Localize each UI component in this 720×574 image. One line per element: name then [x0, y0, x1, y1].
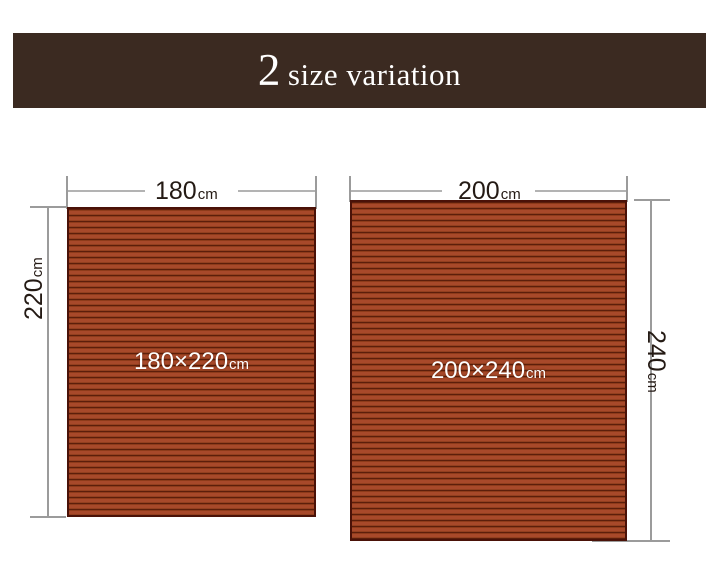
rug-size-unit-left: cm [229, 356, 249, 373]
height-unit-left: cm [30, 257, 45, 277]
height-label-left: 220cm [22, 257, 47, 320]
width-value-left: 180 [155, 179, 197, 204]
variation-count: 2 [258, 48, 281, 93]
dimension-tick-side-left-top [30, 206, 66, 208]
rug-size-label-right: 200×240cm [431, 357, 546, 385]
rug-size-value-left: 180×220 [134, 348, 228, 376]
dimension-line-top-left-a [67, 190, 145, 192]
size-variation-page: 2 size variation 180cm 220cm 180×220cm 2… [0, 0, 720, 574]
dimension-tick-left-start [66, 176, 68, 209]
dimension-tick-right-start [349, 176, 351, 202]
height-label-right: 240cm [643, 330, 668, 393]
dimension-line-top-right-b [535, 190, 627, 192]
dimension-tick-right-end [626, 176, 628, 202]
page-title: 2 size variation [258, 48, 461, 93]
page-title-text: size variation [288, 59, 461, 90]
header-banner: 2 size variation [13, 33, 706, 108]
width-unit-left: cm [198, 187, 218, 202]
height-unit-right: cm [645, 373, 660, 393]
rug-size-unit-right: cm [526, 365, 546, 382]
dimension-tick-side-right-top [634, 199, 670, 201]
width-label-left: 180cm [155, 179, 218, 204]
height-value-left: 220 [22, 278, 47, 320]
height-value-right: 240 [643, 330, 668, 372]
dimension-line-top-right-a [350, 190, 442, 192]
rug-swatch-180x220[interactable]: 180×220cm [67, 207, 316, 517]
rug-size-label-left: 180×220cm [134, 348, 249, 376]
dimension-line-side-left [47, 207, 49, 517]
rug-size-value-right: 200×240 [431, 357, 525, 385]
dimension-tick-left-end [315, 176, 317, 209]
dimension-line-top-left-b [238, 190, 316, 192]
rug-swatch-200x240[interactable]: 200×240cm [350, 200, 627, 541]
dimension-tick-side-left-bot [30, 516, 66, 518]
